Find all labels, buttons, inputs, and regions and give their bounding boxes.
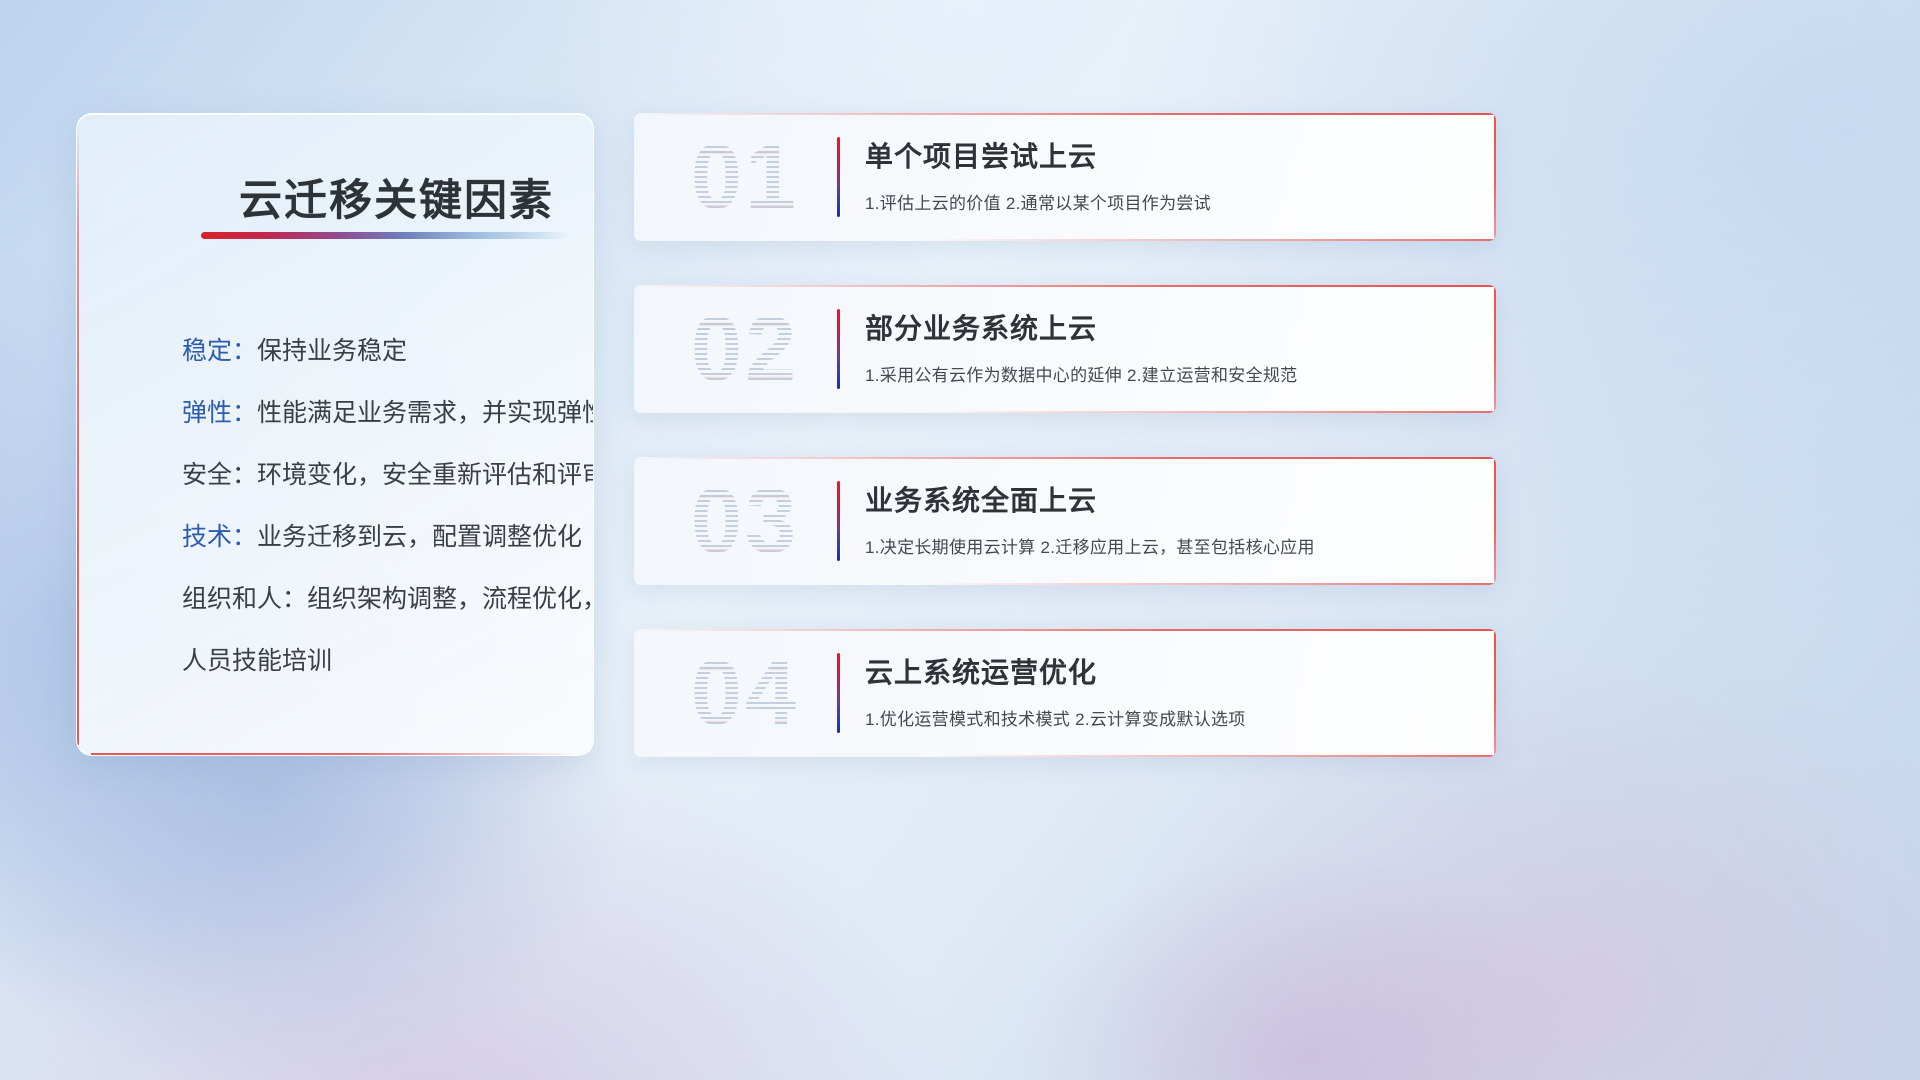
stage-title-02: 部分业务系统上云 bbox=[865, 307, 1097, 347]
card-left-accent-line bbox=[77, 124, 79, 745]
card-bottom-accent-line bbox=[927, 583, 1496, 585]
factor-value-2: 环境变化，安全重新评估和评审 bbox=[257, 461, 594, 489]
factor-key-4: 组织和人： bbox=[182, 585, 307, 613]
stage-divider-bar bbox=[837, 137, 840, 217]
factor-value-0: 保持业务稳定 bbox=[257, 337, 407, 365]
card-right-accent-line bbox=[1494, 457, 1496, 585]
stage-divider-bar bbox=[837, 481, 840, 561]
stage-card-01[interactable]: 01 单个项目尝试上云 1.评估上云的价值 2.通常以某个项目作为尝试 bbox=[634, 113, 1496, 241]
factor-value-5: 人员技能培训 bbox=[182, 647, 332, 675]
stage-card-02[interactable]: 02 部分业务系统上云 1.采用公有云作为数据中心的延伸 2.建立运营和安全规范 bbox=[634, 285, 1496, 413]
title-underline-gradient bbox=[201, 232, 571, 239]
stage-number-02: 02 bbox=[660, 293, 830, 405]
factor-item-4: 组织和人：组织架构调整，流程优化， bbox=[182, 568, 565, 630]
stage-number-03: 03 bbox=[660, 465, 830, 577]
factor-item-0: 稳定：保持业务稳定 bbox=[182, 320, 565, 382]
card-right-accent-line bbox=[1494, 629, 1496, 757]
factor-key-0: 稳定： bbox=[182, 337, 257, 365]
factor-key-2: 安全： bbox=[182, 461, 257, 489]
card-bottom-accent-line bbox=[927, 411, 1496, 413]
stage-title-01: 单个项目尝试上云 bbox=[865, 135, 1097, 175]
stage-subtitle-02: 1.采用公有云作为数据中心的延伸 2.建立运营和安全规范 bbox=[865, 361, 1297, 386]
stage-number-01: 01 bbox=[660, 121, 830, 233]
stage-title-03: 业务系统全面上云 bbox=[865, 479, 1097, 519]
factor-key-1: 弹性： bbox=[182, 399, 257, 427]
stage-card-04[interactable]: 04 云上系统运营优化 1.优化运营模式和技术模式 2.云计算变成默认选项 bbox=[634, 629, 1496, 757]
stage-divider-bar bbox=[837, 653, 840, 733]
page-title: 云迁移关键因素 bbox=[239, 166, 554, 228]
card-right-accent-line bbox=[1494, 285, 1496, 413]
factor-key-3: 技术： bbox=[182, 523, 257, 551]
key-factors-card: 云迁移关键因素 稳定：保持业务稳定 弹性：性能满足业务需求，并实现弹性 安全：环… bbox=[76, 113, 594, 756]
factor-item-2: 安全：环境变化，安全重新评估和评审 bbox=[182, 444, 565, 506]
factor-list: 稳定：保持业务稳定 弹性：性能满足业务需求，并实现弹性 安全：环境变化，安全重新… bbox=[182, 320, 565, 692]
card-bottom-accent-line bbox=[91, 753, 577, 755]
card-top-accent-line bbox=[634, 629, 1496, 631]
stage-subtitle-04: 1.优化运营模式和技术模式 2.云计算变成默认选项 bbox=[865, 705, 1246, 730]
card-bottom-accent-line bbox=[927, 239, 1496, 241]
stage-card-03[interactable]: 03 业务系统全面上云 1.决定长期使用云计算 2.迁移应用上云，甚至包括核心应… bbox=[634, 457, 1496, 585]
stage-number-04: 04 bbox=[660, 637, 830, 749]
factor-item-1: 弹性：性能满足业务需求，并实现弹性 bbox=[182, 382, 565, 444]
card-top-accent-line bbox=[634, 285, 1496, 287]
stage-subtitle-01: 1.评估上云的价值 2.通常以某个项目作为尝试 bbox=[865, 189, 1211, 214]
card-top-accent-line bbox=[634, 113, 1496, 115]
factor-value-4: 组织架构调整，流程优化， bbox=[307, 585, 594, 613]
stage-divider-bar bbox=[837, 309, 840, 389]
card-bottom-accent-line bbox=[927, 755, 1496, 757]
factor-item-5: 人员技能培训 bbox=[182, 630, 565, 692]
factor-value-1: 性能满足业务需求，并实现弹性 bbox=[257, 399, 594, 427]
stage-subtitle-03: 1.决定长期使用云计算 2.迁移应用上云，甚至包括核心应用 bbox=[865, 533, 1315, 558]
card-top-accent-line bbox=[634, 457, 1496, 459]
stage-title-04: 云上系统运营优化 bbox=[865, 651, 1097, 691]
card-right-accent-line bbox=[1494, 113, 1496, 241]
factor-item-3: 技术：业务迁移到云，配置调整优化 bbox=[182, 506, 565, 568]
factor-value-3: 业务迁移到云，配置调整优化 bbox=[257, 523, 582, 551]
